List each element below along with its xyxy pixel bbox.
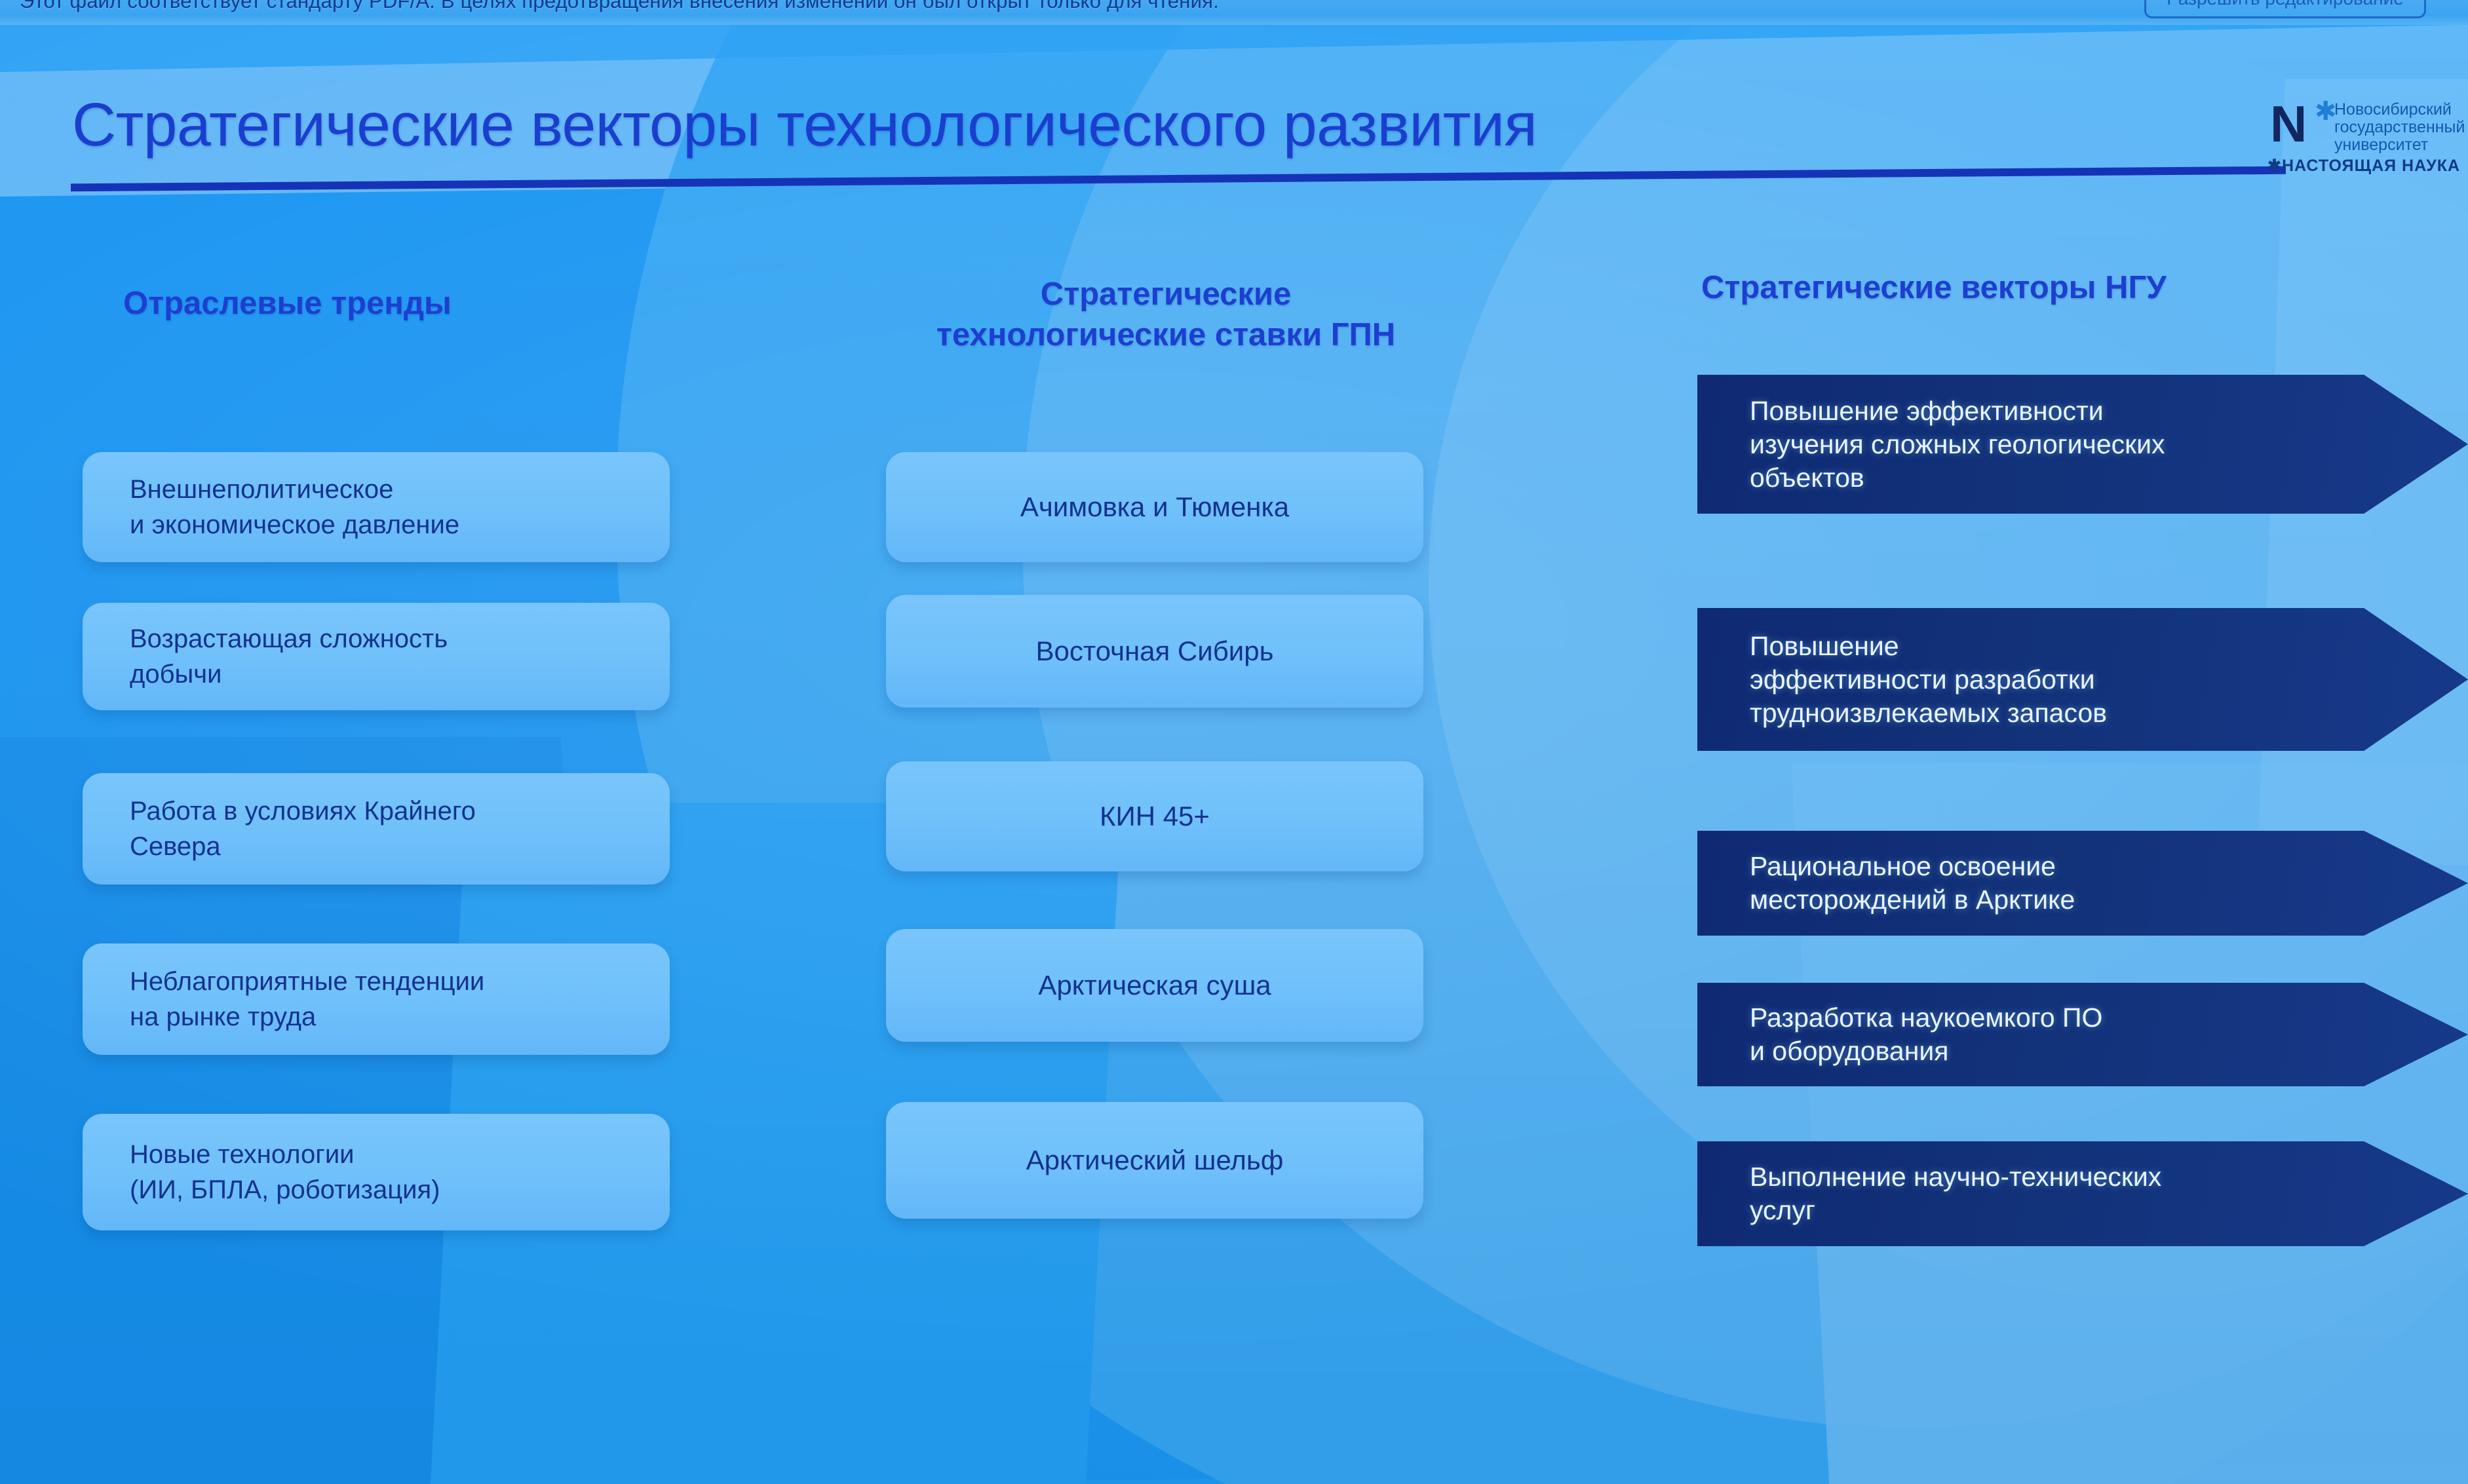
slide-header: Стратегические векторы технологического … — [0, 75, 2468, 206]
vector-arrow-label: Повышение эффективности изучения сложных… — [1697, 394, 2277, 495]
bet-card-label: Арктический шельф — [1026, 1143, 1284, 1178]
trend-card[interactable]: Внешнеполитическое и экономическое давле… — [83, 452, 670, 562]
logo-letter-n: N — [2270, 98, 2305, 149]
trend-card-label: Работа в условиях Крайнего Севера — [130, 793, 476, 864]
vector-arrow-label: Рациональное освоение месторождений в Ар… — [1697, 850, 2186, 917]
trend-card-label: Новые технологии (ИИ, БПЛА, роботизация) — [130, 1137, 440, 1208]
pdfa-notification-bar: Этот файл соответствует стандарту PDF/A.… — [0, 0, 2468, 25]
trend-card[interactable]: Работа в условиях Крайнего Севера — [83, 773, 670, 885]
vector-arrow[interactable]: Выполнение научно-технических услуг — [1697, 1141, 2468, 1246]
vector-arrow-label: Выполнение научно-технических услуг — [1697, 1160, 2273, 1227]
trend-card-label: Внешнеполитическое и экономическое давле… — [130, 472, 459, 542]
logo-university-name: Новосибирский государственный университе… — [2334, 101, 2465, 154]
pdfa-notification-message: Этот файл соответствует стандарту PDF/A.… — [20, 0, 1219, 13]
trend-card-label: Возрастающая сложность добычи — [130, 621, 448, 692]
logo-tagline: ✱НАСТОЯЩАЯ НАУКА — [2267, 156, 2460, 176]
vector-arrow[interactable]: Повышение эффективности изучения сложных… — [1697, 375, 2468, 514]
column-heading-strategic-bets: Стратегические технологические ставки ГП… — [822, 274, 1510, 355]
column-heading-nsu-vectors: Стратегические векторы НГУ — [1701, 267, 2167, 308]
bet-card-label: Восточная Сибирь — [1036, 634, 1274, 669]
page-title: Стратегические векторы технологического … — [72, 90, 1537, 160]
asterisk-icon: ✱ — [2315, 98, 2337, 124]
bet-card[interactable]: Арктическая суша — [886, 929, 1423, 1042]
bet-card-label: КИН 45+ — [1100, 799, 1210, 834]
enable-editing-button[interactable]: Разрешить редактирование — [2144, 0, 2426, 18]
bet-card[interactable]: КИН 45+ — [886, 761, 1423, 871]
bet-card[interactable]: Ачимовка и Тюменка — [886, 452, 1423, 562]
trend-card[interactable]: Новые технологии (ИИ, БПЛА, роботизация) — [83, 1114, 670, 1230]
presentation-slide: Стратегические векторы технологического … — [0, 0, 2468, 1484]
vector-arrow[interactable]: Разработка наукоемкого ПО и оборудования — [1697, 983, 2468, 1086]
bet-card-label: Ачимовка и Тюменка — [1020, 489, 1289, 525]
vector-arrow-label: Повышение эффективности разработки трудн… — [1697, 630, 2218, 730]
trend-card-label: Неблагоприятные тенденции на рынке труда — [130, 964, 484, 1035]
bet-card[interactable]: Восточная Сибирь — [886, 595, 1423, 708]
vector-arrow[interactable]: Повышение эффективности разработки трудн… — [1697, 608, 2468, 751]
bet-card[interactable]: Арктический шельф — [886, 1102, 1423, 1219]
trend-card[interactable]: Возрастающая сложность добычи — [83, 603, 670, 710]
nsu-logo: N ✱ Новосибирский государственный универ… — [2265, 96, 2468, 176]
column-heading-industry-trends: Отраслевые тренды — [123, 283, 452, 324]
bet-card-label: Арктическая суша — [1038, 968, 1271, 1003]
title-divider — [71, 166, 2286, 192]
trend-card[interactable]: Неблагоприятные тенденции на рынке труда — [83, 943, 670, 1055]
vector-arrow-label: Разработка наукоемкого ПО и оборудования — [1697, 1001, 2214, 1068]
vector-arrow[interactable]: Рациональное освоение месторождений в Ар… — [1697, 831, 2468, 936]
